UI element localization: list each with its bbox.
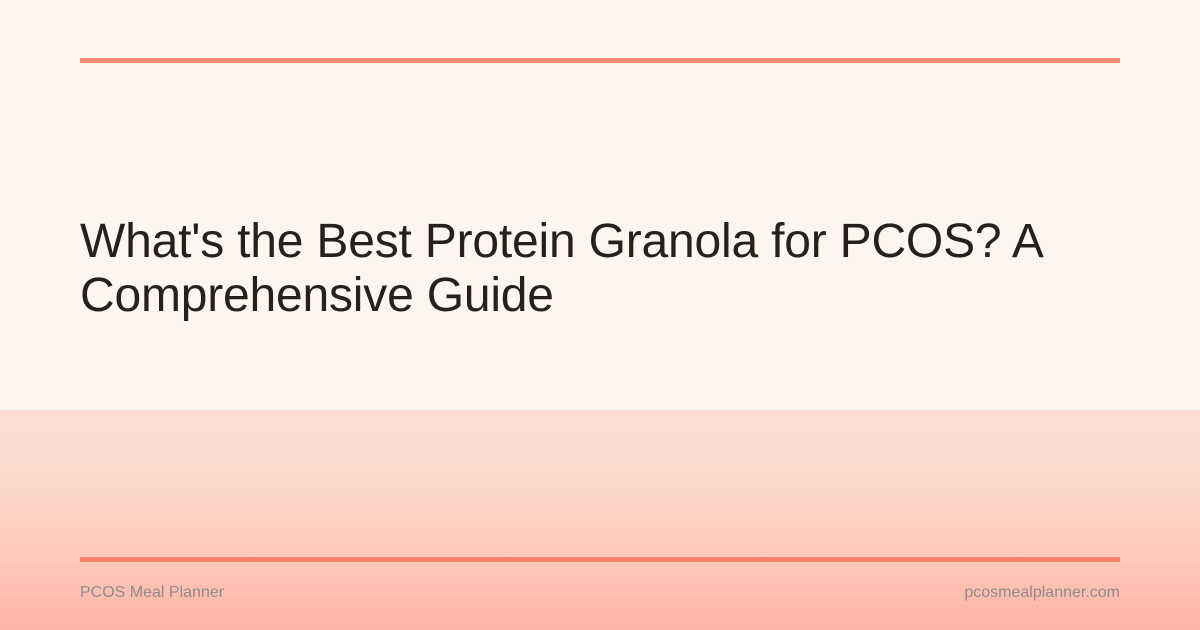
bottom-accent-rule	[80, 557, 1120, 562]
page-title: What's the Best Protein Granola for PCOS…	[80, 215, 1080, 323]
title-block: What's the Best Protein Granola for PCOS…	[80, 215, 1080, 323]
footer-url: pcosmealplanner.com	[964, 580, 1120, 606]
footer: PCOS Meal Planner pcosmealplanner.com	[80, 580, 1120, 606]
footer-brand: PCOS Meal Planner	[80, 580, 224, 606]
social-share-card: What's the Best Protein Granola for PCOS…	[0, 0, 1200, 630]
top-accent-rule	[80, 58, 1120, 63]
